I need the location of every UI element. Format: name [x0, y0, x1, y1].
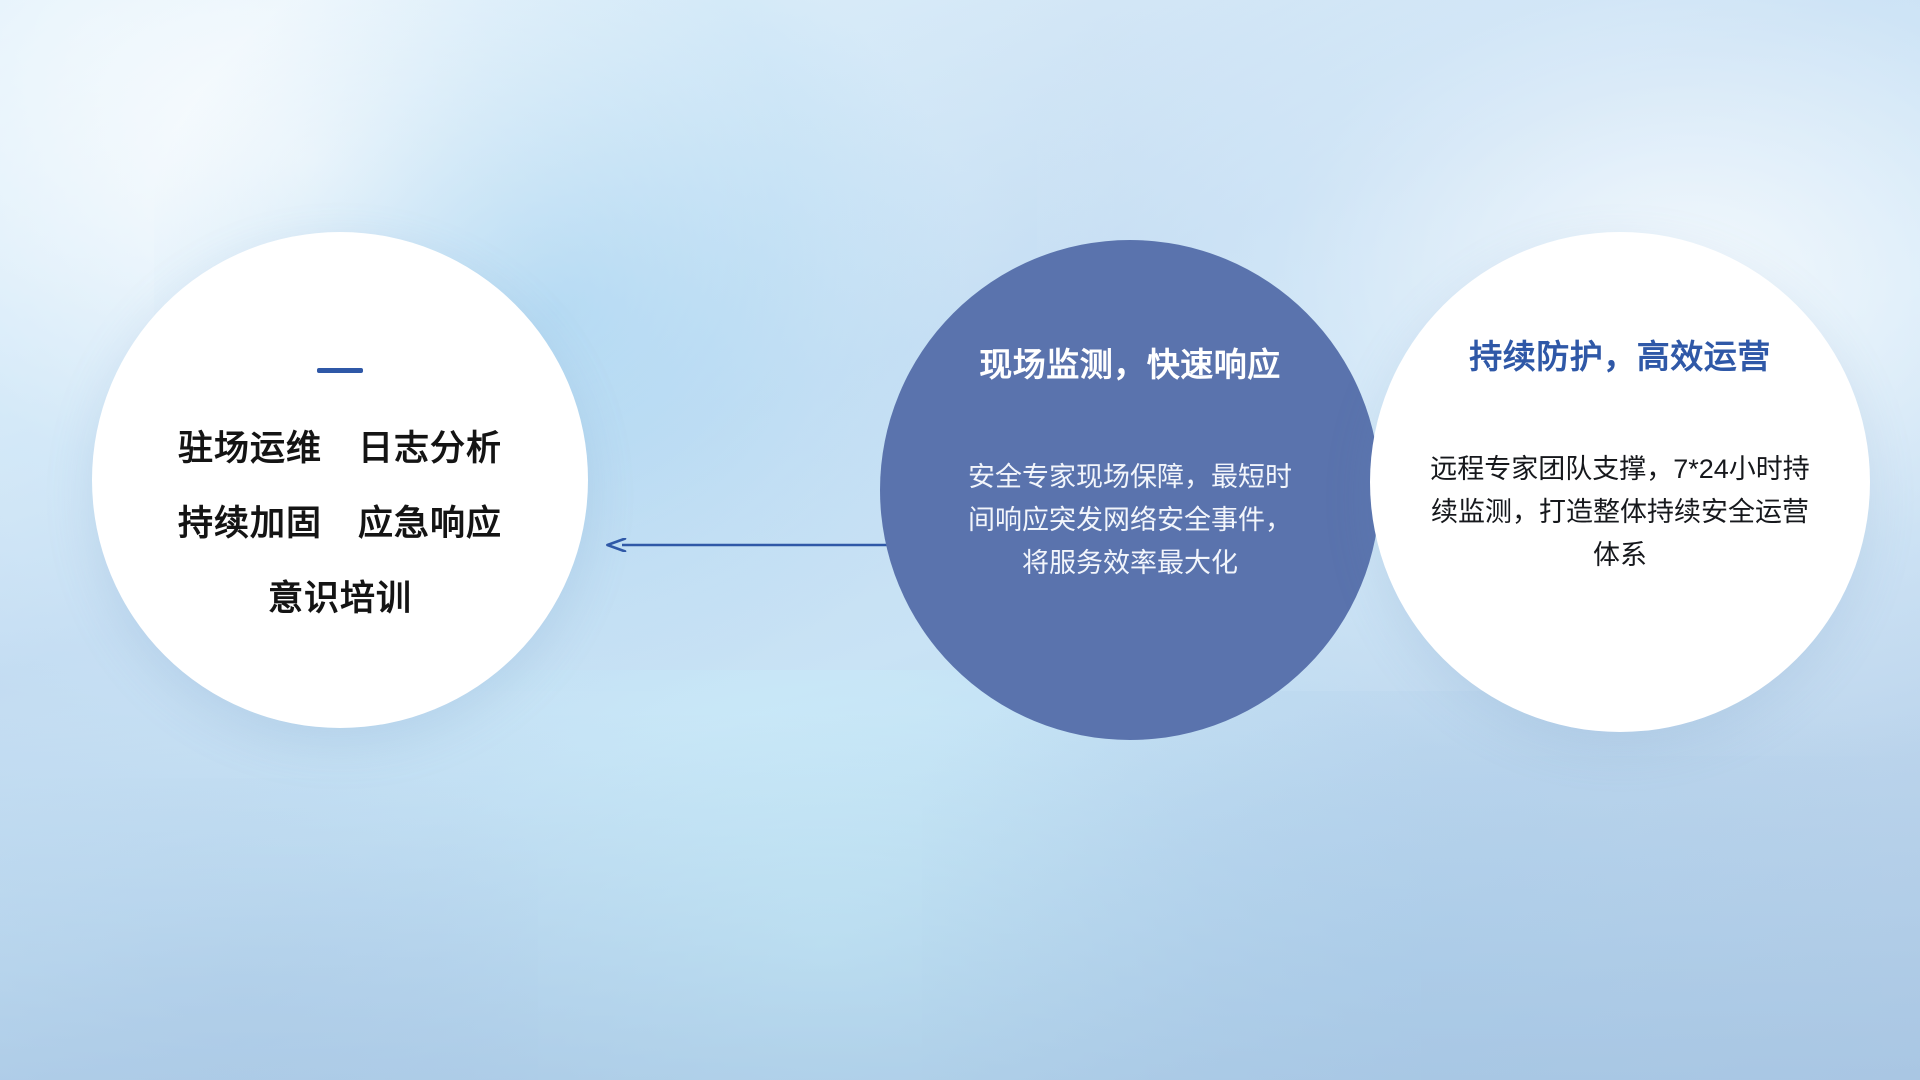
list-item: 驻场运维 日志分析 — [178, 431, 502, 466]
horizontal-dash-icon — [317, 368, 363, 373]
list-item: 持续加固 应急响应 — [178, 506, 502, 541]
list-item: 意识培训 — [178, 581, 502, 616]
background-bottom-band — [0, 713, 1920, 1080]
onsite-monitoring-body: 安全专家现场保障，最短时间响应突发网络安全事件，将服务效率最大化 — [965, 456, 1295, 586]
left-arrow-icon — [606, 538, 892, 552]
continuous-protection-title: 持续防护，高效运营 — [1469, 330, 1771, 378]
left-capability-circle: 驻场运维 日志分析 持续加固 应急响应 意识培训 — [92, 232, 588, 728]
continuous-protection-circle: 持续防护，高效运营 远程专家团队支撑，7*24小时持续监测，打造整体持续安全运营… — [1370, 232, 1870, 732]
continuous-protection-body: 远程专家团队支撑，7*24小时持续监测，打造整体持续安全运营体系 — [1420, 448, 1820, 578]
onsite-monitoring-title: 现场监测，快速响应 — [979, 338, 1281, 386]
left-circle-capability-list: 驻场运维 日志分析 持续加固 应急响应 意识培训 — [178, 431, 502, 616]
onsite-monitoring-circle: 现场监测，快速响应 安全专家现场保障，最短时间响应突发网络安全事件，将服务效率最… — [880, 240, 1380, 740]
